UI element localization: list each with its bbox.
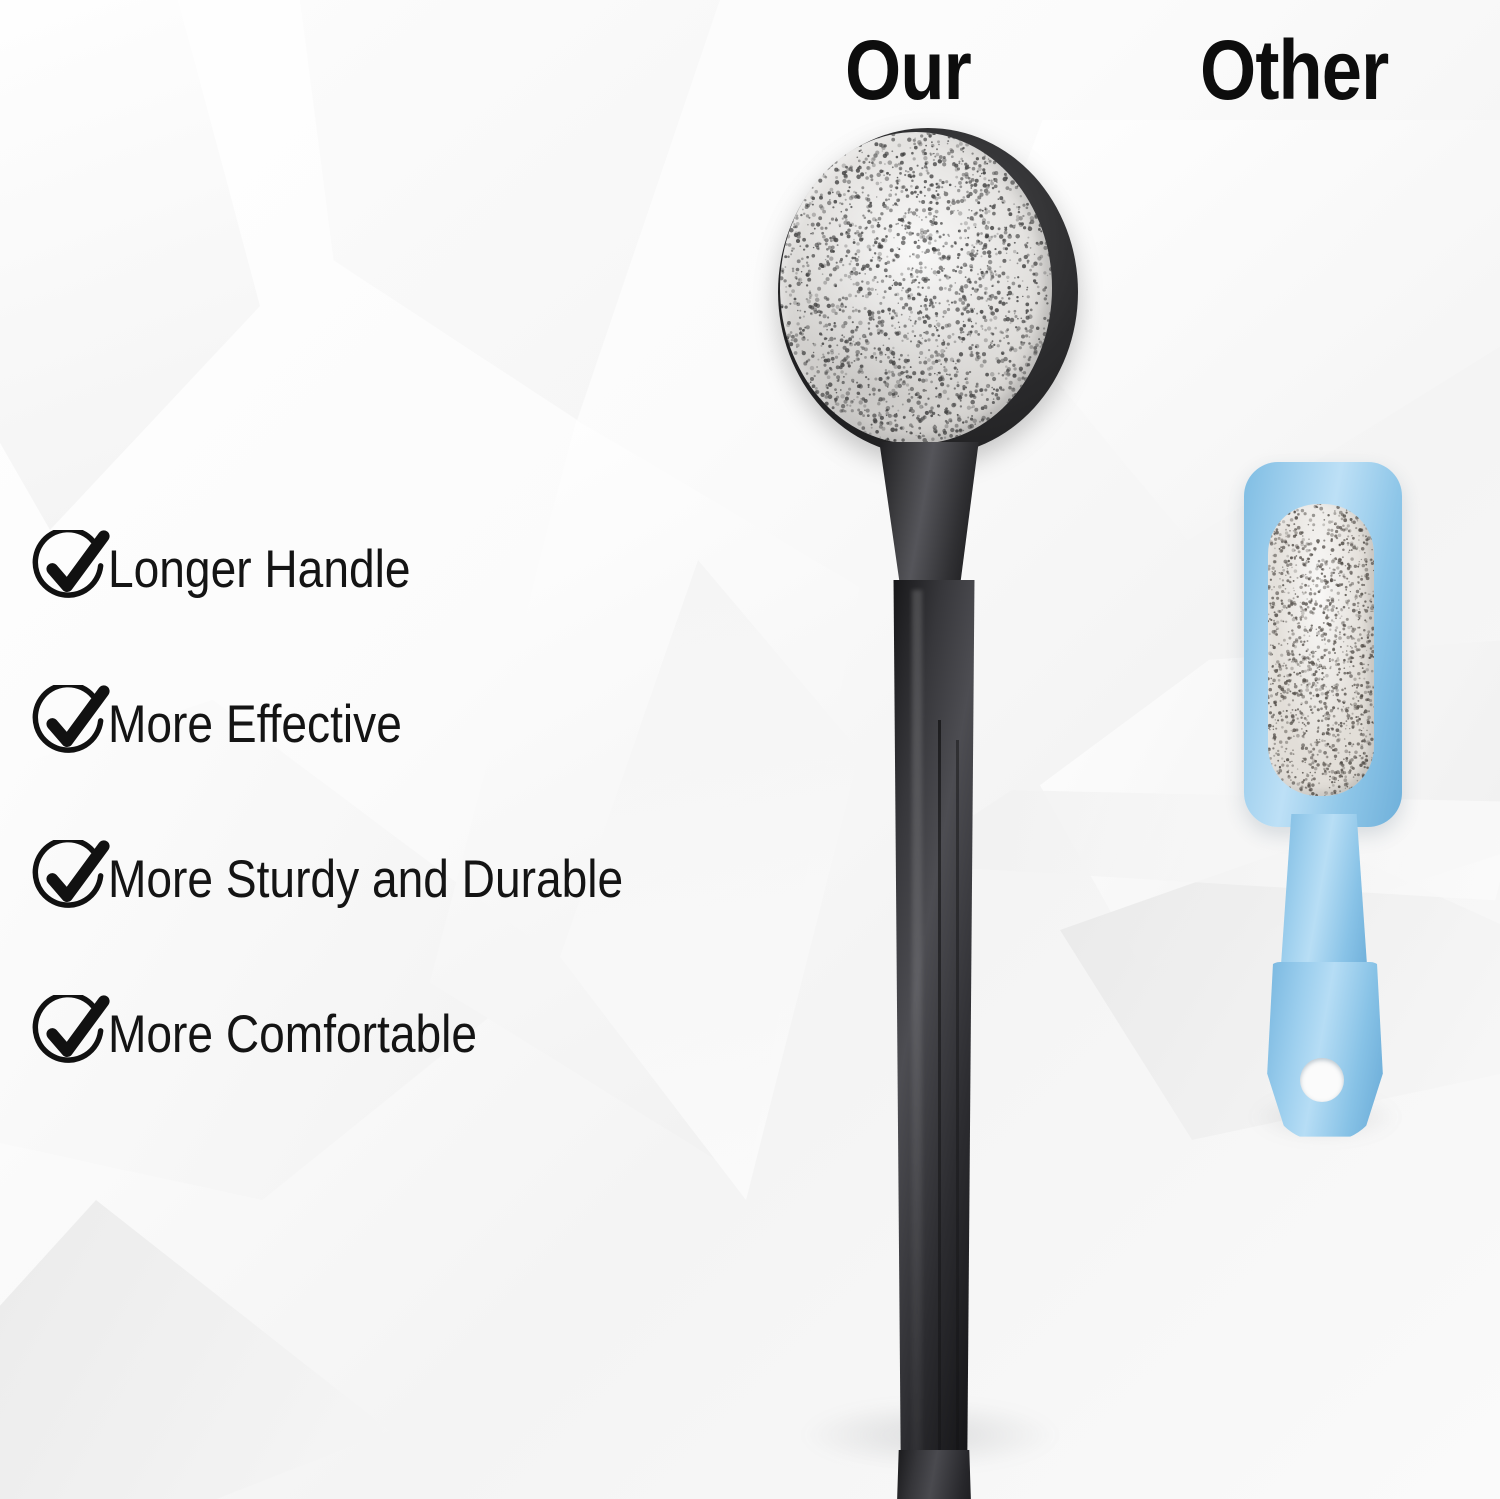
- handle-neck: [875, 442, 983, 592]
- pumice-head-ours: [778, 128, 1078, 458]
- handle-highlight: [912, 590, 922, 1470]
- handle-groove: [938, 720, 941, 1480]
- product-comparison-image: Our Other Longer Handle More Effective: [0, 0, 1500, 1499]
- check-circle-icon: [30, 840, 112, 918]
- check-circle-icon: [30, 530, 112, 608]
- handle-groove: [956, 740, 959, 1470]
- column-header-other: Other: [1200, 28, 1388, 112]
- feature-item: More Comfortable: [30, 995, 532, 1073]
- feature-label: More Comfortable: [108, 1008, 477, 1061]
- hang-hole-other: [1300, 1058, 1344, 1102]
- feature-item: More Effective: [30, 685, 446, 763]
- product-image-ours: [760, 120, 1120, 1499]
- blue-grip: [1266, 962, 1384, 1142]
- feature-label: More Sturdy and Durable: [108, 853, 623, 906]
- feature-label: More Effective: [108, 698, 402, 751]
- blue-neck: [1276, 814, 1372, 982]
- handle-tip: [892, 1450, 976, 1499]
- column-header-ours: Our: [845, 28, 971, 112]
- feature-item: Longer Handle: [30, 530, 456, 608]
- feature-label: Longer Handle: [108, 543, 411, 596]
- pumice-surface: [780, 132, 1052, 444]
- check-circle-icon: [30, 685, 112, 763]
- pumice-surface-other: [1268, 504, 1374, 796]
- handle-shaft: [888, 580, 980, 1480]
- product-image-other: [1240, 462, 1410, 1142]
- check-circle-icon: [30, 995, 112, 1073]
- feature-item: More Sturdy and Durable: [30, 840, 700, 918]
